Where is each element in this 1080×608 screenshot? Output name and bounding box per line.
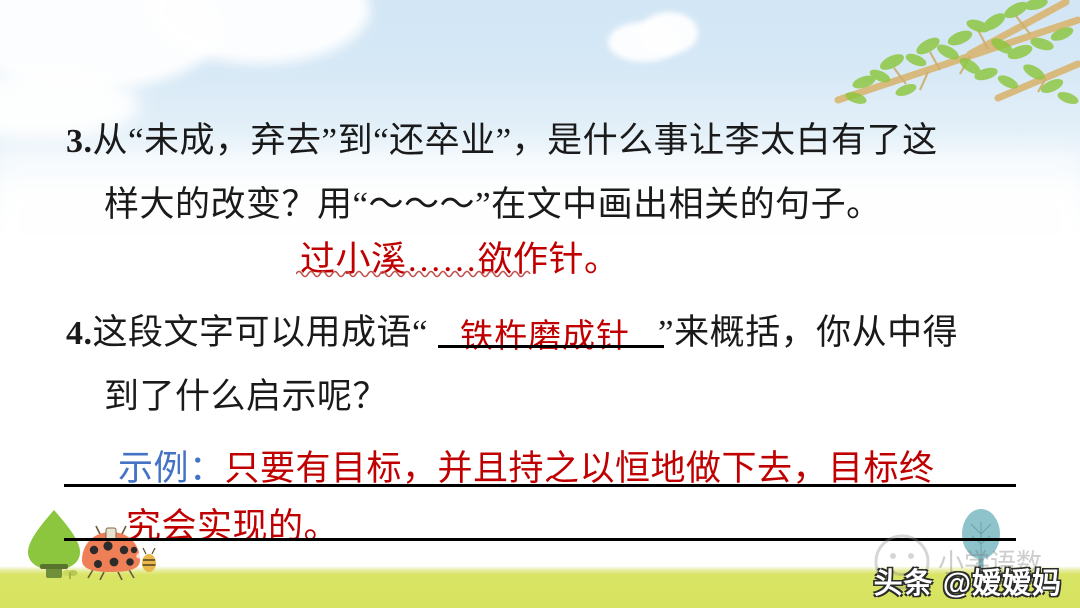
- question-3-line-2: 样大的改变？用“〜〜〜”在文中画出相关的句子。: [104, 176, 882, 227]
- question-3-line-1: 3.从“未成，弃去”到“还卒业”，是什么事让李太白有了这: [66, 112, 938, 163]
- question-4-line-2: 到了什么启示呢？: [104, 368, 388, 419]
- wavy-red-underline: [296, 268, 536, 278]
- sample-answer-label: 示例：: [118, 449, 225, 488]
- question-3-line-2-part-a: 样大的改变？用“: [104, 185, 369, 224]
- question-4-line-1-part-b: ”来概括，你从中得: [658, 313, 958, 352]
- question-4-blank-underline: [438, 345, 664, 348]
- sample-answer-line-2: 究会实现的。: [126, 498, 339, 549]
- answer-rule-line-1: [64, 484, 1016, 487]
- question-4-blank-answer: 铁杵磨成针: [460, 309, 630, 357]
- sample-answer-text-line-1: 只要有目标，并且持之以恒地做下去，目标终: [225, 449, 935, 488]
- wavy-mark-glyph: 〜〜〜: [369, 185, 476, 224]
- slide-text-content: 3.从“未成，弃去”到“还卒业”，是什么事让李太白有了这 样大的改变？用“〜〜〜…: [0, 0, 1080, 608]
- question-4-line-1-part-a: 这段文字可以用成语“: [93, 313, 429, 352]
- question-3-line-1-text: 从“未成，弃去”到“还卒业”，是什么事让李太白有了这: [93, 121, 938, 160]
- watermark-handle: 头条 @嫒嫒妈: [874, 560, 1062, 602]
- question-3-line-2-part-b: ”在文中画出相关的句子。: [475, 185, 882, 224]
- question-3-number: 3.: [66, 123, 93, 160]
- slide-canvas: 3.从“未成，弃去”到“还卒业”，是什么事让李太白有了这 样大的改变？用“〜〜〜…: [0, 0, 1080, 608]
- question-4-number: 4.: [66, 315, 93, 352]
